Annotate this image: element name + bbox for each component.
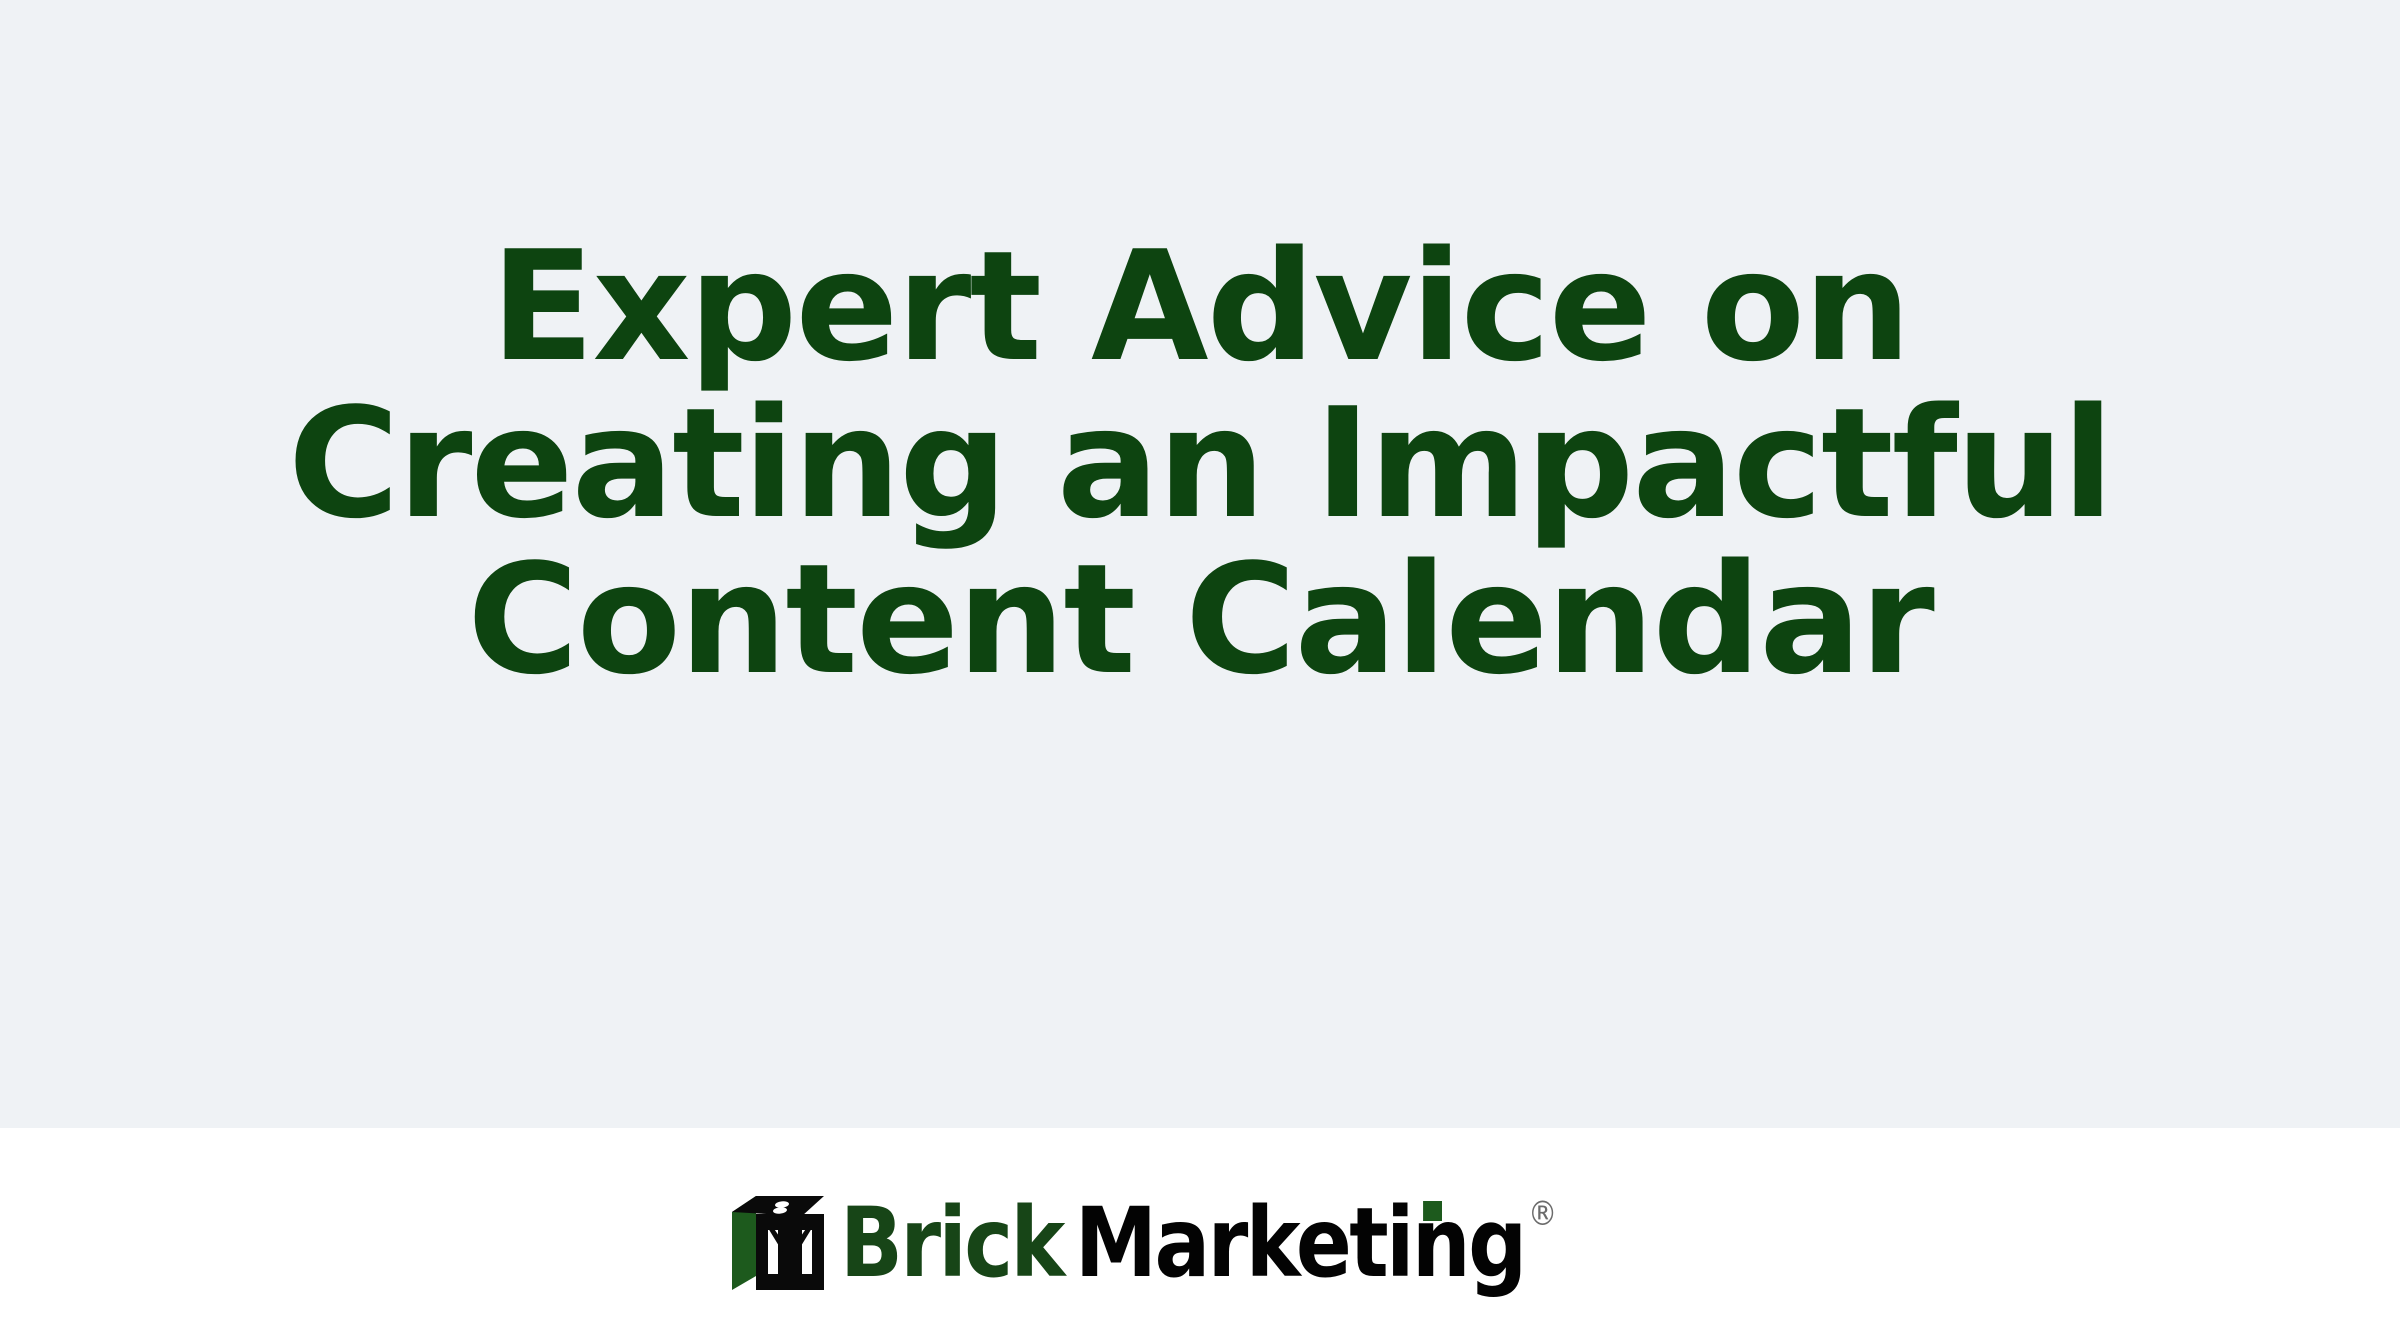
page-title-line-3: Content Calendar bbox=[150, 542, 2250, 699]
page-title-line-1: Expert Advice on bbox=[150, 229, 2250, 386]
brick-cube-icon bbox=[728, 1190, 838, 1296]
footer-section: Brick Marketing ® bbox=[0, 1128, 2400, 1341]
logo-word-marketing: Marketing bbox=[1075, 1195, 1525, 1291]
registered-trademark-icon: ® bbox=[1529, 1197, 1556, 1231]
page-title-line-2: Creating an Impactful bbox=[150, 386, 2250, 543]
hero-section: Expert Advice on Creating an Impactful C… bbox=[0, 0, 2400, 1128]
logo-word-marketing-text: Marketing bbox=[1075, 1187, 1525, 1299]
logo-wordmark: Brick Marketing ® bbox=[840, 1195, 1555, 1291]
logo-word-brick: Brick bbox=[840, 1195, 1063, 1291]
logo-i-dot-icon bbox=[1424, 1201, 1443, 1221]
brick-marketing-logo[interactable]: Brick Marketing ® bbox=[728, 1190, 1671, 1296]
slide-root: Expert Advice on Creating an Impactful C… bbox=[0, 0, 2400, 1341]
page-title: Expert Advice on Creating an Impactful C… bbox=[150, 229, 2250, 899]
